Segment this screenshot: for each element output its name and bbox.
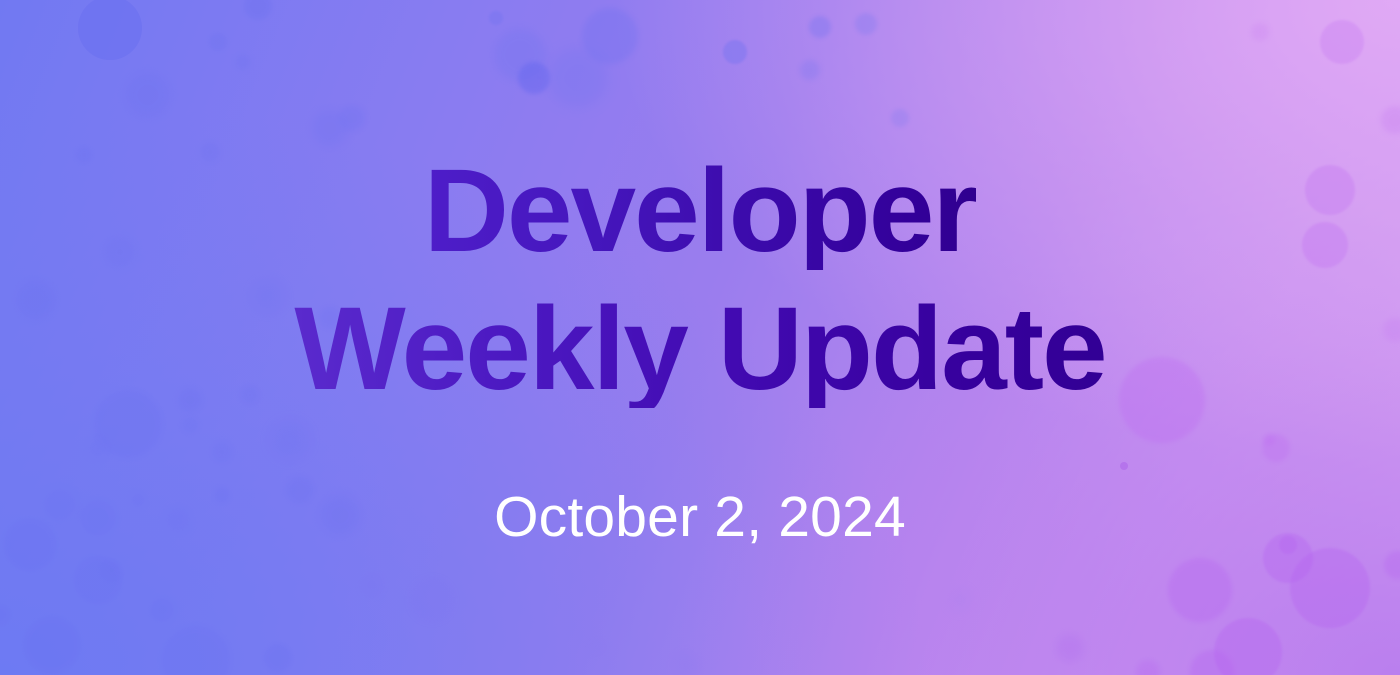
slide-title-line-2: Weekly Update — [294, 290, 1105, 408]
slide-title-line-1: Developer — [424, 152, 977, 270]
slide-subtitle-date: October 2, 2024 — [494, 484, 906, 550]
title-slide: Developer Weekly Update October 2, 2024 — [0, 0, 1400, 675]
headline-block: Developer Weekly Update October 2, 2024 — [0, 0, 1400, 675]
